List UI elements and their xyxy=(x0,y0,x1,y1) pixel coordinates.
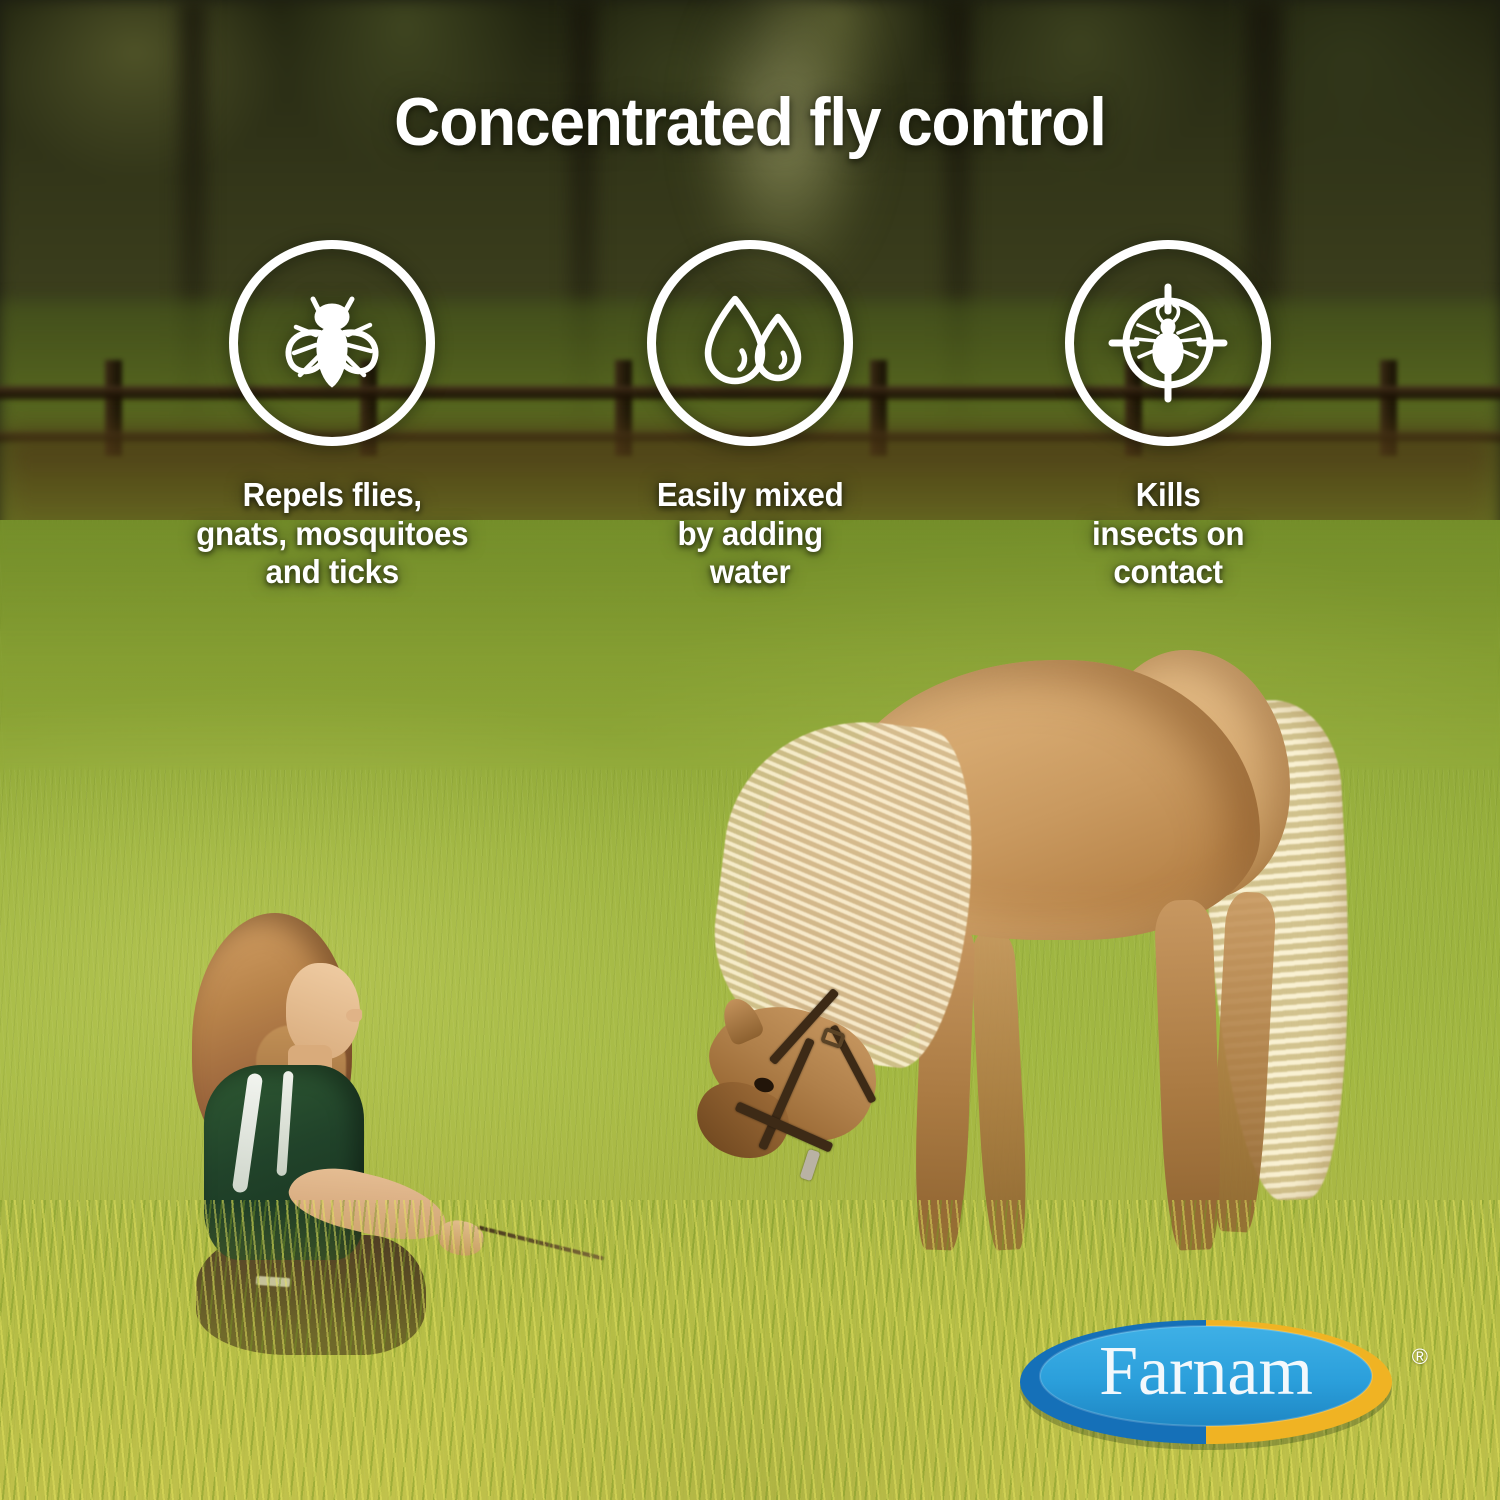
feature-label: Kills insects on contact xyxy=(1092,476,1244,592)
pasture-photograph xyxy=(0,0,1500,1500)
fly-insect-icon xyxy=(229,240,435,446)
product-marketing-image: Concentrated fly control xyxy=(0,0,1500,1500)
feature-label: Repels flies, gnats, mosquitoes and tick… xyxy=(196,476,468,592)
horse-leg xyxy=(1154,899,1224,1251)
water-droplets-icon xyxy=(647,240,853,446)
feature-item-kills: Kills insects on contact xyxy=(1018,240,1318,592)
feature-item-mixing: Easily mixed by adding water xyxy=(600,240,900,592)
feature-item-repels: Repels flies, gnats, mosquitoes and tick… xyxy=(182,240,482,592)
womans-nose xyxy=(346,1009,362,1022)
halter-clip xyxy=(800,1149,821,1181)
farnam-logo: Farnam ® xyxy=(1010,1310,1430,1455)
page-title: Concentrated fly control xyxy=(45,88,1455,156)
feature-list: Repels flies, gnats, mosquitoes and tick… xyxy=(0,240,1500,592)
registered-trademark-symbol: ® xyxy=(1412,1346,1428,1368)
feature-label: Easily mixed by adding water xyxy=(657,476,844,592)
farnam-wordmark: Farnam xyxy=(1099,1333,1313,1410)
tick-crosshair-target-icon xyxy=(1065,240,1271,446)
